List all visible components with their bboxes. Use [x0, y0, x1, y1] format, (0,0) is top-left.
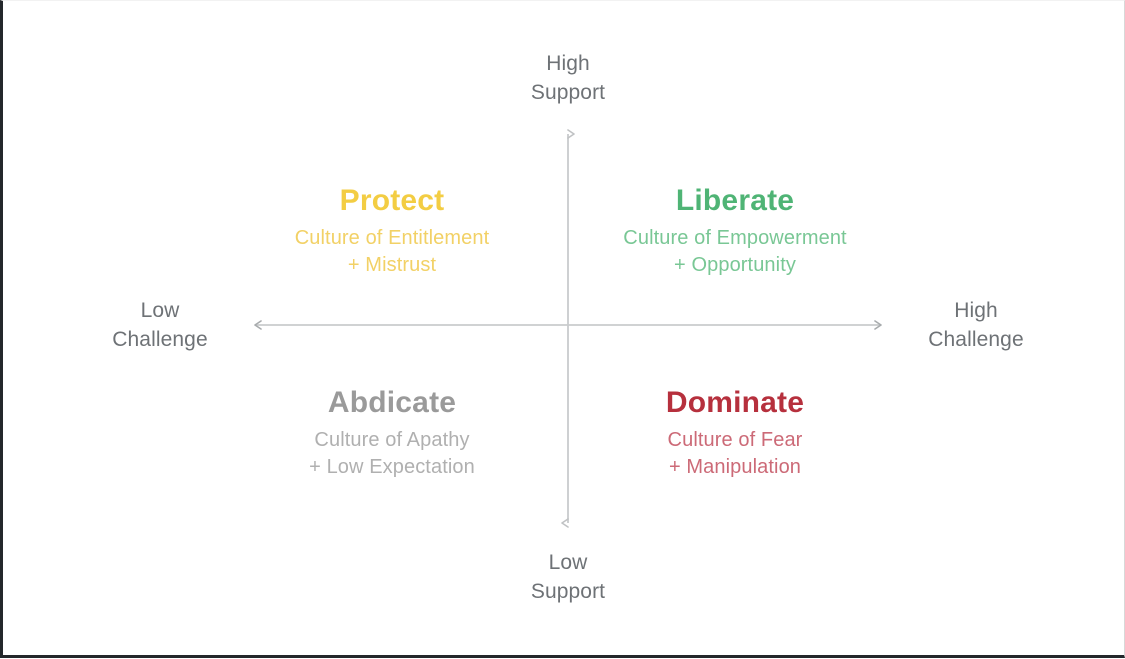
quadrant-protect-title: Protect	[227, 183, 557, 219]
axis-label-high-challenge: High Challenge	[881, 296, 1071, 354]
quadrant-liberate: Liberate Culture of Empowerment + Opport…	[570, 183, 900, 279]
axis-label-high-support: High Support	[468, 49, 668, 107]
axis-label-low-challenge: Low Challenge	[65, 296, 255, 354]
quadrant-dominate-title: Dominate	[570, 385, 900, 421]
quadrant-abdicate-title: Abdicate	[227, 385, 557, 421]
diagram-frame: High Support Low Support Low Challenge H…	[0, 0, 1125, 658]
quadrant-liberate-subtitle: Culture of Empowerment + Opportunity	[570, 225, 900, 279]
quadrant-protect-subtitle: Culture of Entitlement + Mistrust	[227, 225, 557, 279]
quadrant-liberate-title: Liberate	[570, 183, 900, 219]
axis-label-low-support: Low Support	[468, 548, 668, 606]
quadrant-dominate-subtitle: Culture of Fear + Manipulation	[570, 427, 900, 481]
quadrant-abdicate-subtitle: Culture of Apathy + Low Expectation	[227, 427, 557, 481]
quadrant-protect: Protect Culture of Entitlement + Mistrus…	[227, 183, 557, 279]
quadrant-abdicate: Abdicate Culture of Apathy + Low Expecta…	[227, 385, 557, 481]
quadrant-dominate: Dominate Culture of Fear + Manipulation	[570, 385, 900, 481]
support-challenge-matrix: High Support Low Support Low Challenge H…	[3, 1, 1124, 655]
